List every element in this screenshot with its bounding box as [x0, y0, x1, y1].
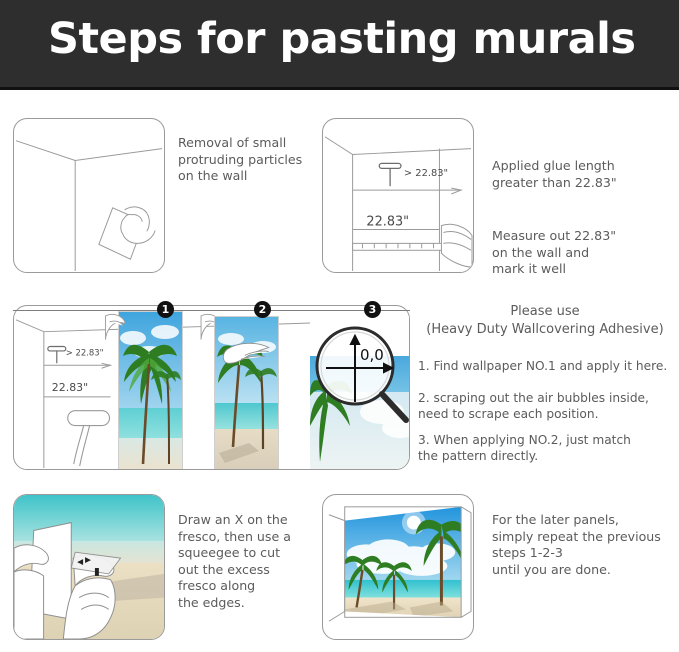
step3-illustration-card: > 22.83" 22.83": [13, 305, 410, 470]
step-badge-2: 2: [254, 301, 271, 318]
step-badge-1: 1: [157, 301, 174, 318]
svg-text:0,0: 0,0: [360, 346, 384, 364]
finished-mural-room-illustration: [323, 495, 473, 639]
palm-tree-art: [119, 312, 182, 470]
instruction-item-1: 1. Find wallpaper NO.1 and apply it here…: [418, 358, 679, 374]
adhesive-heading-line2: (Heavy Duty Wallcovering Adhesive): [416, 322, 674, 337]
magnifier-icon: 0,0: [310, 316, 410, 470]
step-badge-3: 3: [364, 301, 381, 318]
step1-caption: Removal of small protruding particles on…: [178, 135, 328, 185]
mural-panel-2: [214, 316, 279, 470]
step5-caption: For the later panels, simply repeat the …: [492, 512, 679, 578]
instruction-item-3: 3. When applying NO.2, just match the pa…: [418, 432, 679, 464]
svg-text:22.83": 22.83": [52, 381, 88, 394]
page-title: Steps for pasting murals: [48, 14, 635, 64]
svg-text:22.83": 22.83": [366, 215, 409, 230]
svg-text:> 22.83": > 22.83": [66, 347, 104, 357]
step2-illustration-card: > 22.83" 22.83": [322, 118, 474, 273]
wall-corner-wipe-illustration: [14, 119, 164, 272]
step2-caption-b: Measure out 22.83" on the wall and mark …: [492, 228, 672, 278]
step5-illustration-card: [322, 494, 474, 640]
step2-caption-a: Applied glue length greater than 22.83": [492, 158, 672, 191]
wall-glue-measure-illustration: > 22.83" 22.83": [323, 119, 473, 272]
sequence-rule: [13, 310, 410, 311]
instruction-sheet: Steps for pasting murals Removal of smal…: [0, 0, 679, 652]
squeegee-trim-illustration: [14, 495, 164, 639]
header-bar: Steps for pasting murals: [0, 0, 679, 90]
instruction-item-2: 2. scraping out the air bubbles inside, …: [418, 390, 679, 422]
step4-caption: Draw an X on the fresco, then use a sque…: [178, 512, 328, 611]
svg-text:> 22.83": > 22.83": [404, 168, 448, 179]
mural-panel-1: [118, 311, 183, 470]
step1-illustration-card: [13, 118, 165, 273]
adhesive-heading-line1: Please use: [416, 304, 674, 319]
palm-tree-art: [215, 317, 278, 470]
mural-panel-3: 0,0: [310, 316, 410, 470]
step4-illustration-card: [13, 494, 165, 640]
